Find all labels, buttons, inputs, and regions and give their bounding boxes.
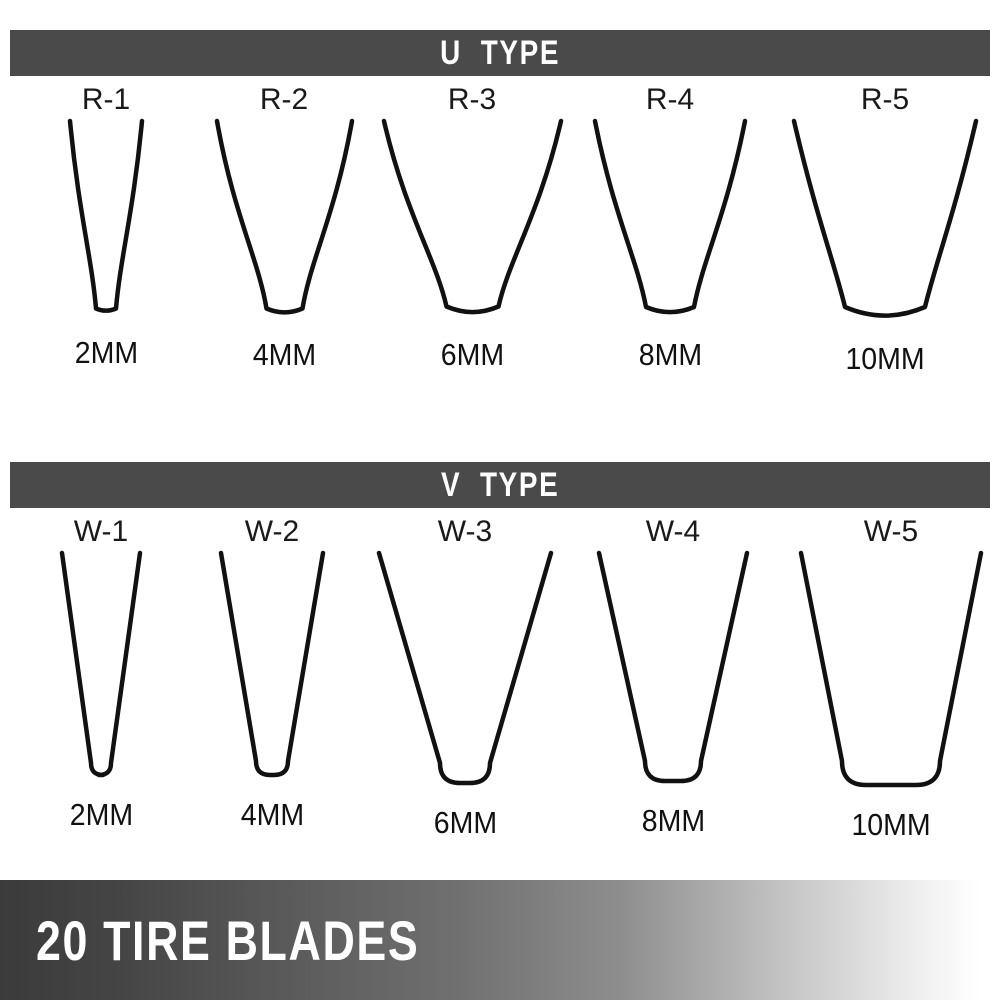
blade-cell: R-48MM	[570, 85, 770, 395]
blade-size-label: 6MM	[440, 339, 503, 370]
blade-cell: W-36MM	[360, 517, 570, 852]
blade-profile-graphic	[587, 553, 759, 797]
blade-cell: W-24MM	[184, 517, 360, 852]
blade-profile-graphic	[583, 121, 757, 329]
blade-code-label: R-5	[861, 85, 909, 115]
blade-profile-graphic	[205, 121, 364, 329]
blade-cell: R-24MM	[194, 85, 374, 395]
blade-code-label: W-1	[74, 517, 128, 547]
blade-size-label: 2MM	[74, 337, 137, 368]
blade-profile-graphic	[782, 121, 988, 333]
blade-code-label: R-4	[646, 85, 694, 115]
blade-cell: R-36MM	[374, 85, 570, 395]
blade-profile-graphic	[209, 553, 335, 791]
blade-code-label: R-3	[448, 85, 496, 115]
tire-blade-spec-sheet: U TYPE R-12MMR-24MMR-36MMR-48MMR-510MM V…	[0, 0, 1000, 1000]
blade-size-label: 4MM	[240, 799, 303, 830]
blade-code-label: W-5	[864, 517, 918, 547]
banner-title: 20 TIRE BLADES	[36, 908, 419, 973]
bottom-banner: 20 TIRE BLADES	[0, 880, 1000, 1000]
section-header-v-type: V TYPE	[10, 462, 990, 508]
blade-size-label: 10MM	[845, 343, 924, 374]
blade-size-label: 10MM	[851, 809, 930, 840]
blade-row-v-type: W-12MMW-24MMW-36MMW-48MMW-510MM	[0, 517, 1000, 852]
blade-profile-graphic	[50, 553, 152, 791]
blade-size-label: 8MM	[641, 805, 704, 836]
blade-cell: W-12MM	[18, 517, 184, 852]
blade-code-label: W-2	[245, 517, 299, 547]
section-title-u-type: U TYPE	[440, 34, 560, 73]
section-header-u-type: U TYPE	[10, 30, 990, 76]
blade-row-u-type: R-12MMR-24MMR-36MMR-48MMR-510MM	[0, 85, 1000, 395]
blade-code-label: W-4	[646, 517, 700, 547]
blade-size-label: 4MM	[252, 339, 315, 370]
blade-cell: W-510MM	[776, 517, 1000, 852]
blade-profile-graphic	[58, 121, 154, 327]
blade-cell: R-510MM	[770, 85, 1000, 395]
blade-profile-graphic	[789, 553, 993, 801]
blade-size-label: 2MM	[69, 799, 132, 830]
section-title-v-type: V TYPE	[441, 466, 559, 505]
blade-profile-graphic	[367, 553, 563, 799]
blade-profile-graphic	[372, 121, 573, 329]
blade-cell: W-48MM	[570, 517, 776, 852]
blade-code-label: W-3	[438, 517, 492, 547]
blade-code-label: R-1	[82, 85, 130, 115]
blade-code-label: R-2	[260, 85, 308, 115]
blade-cell: R-12MM	[18, 85, 194, 395]
blade-size-label: 6MM	[433, 807, 496, 838]
blade-size-label: 8MM	[638, 339, 701, 370]
